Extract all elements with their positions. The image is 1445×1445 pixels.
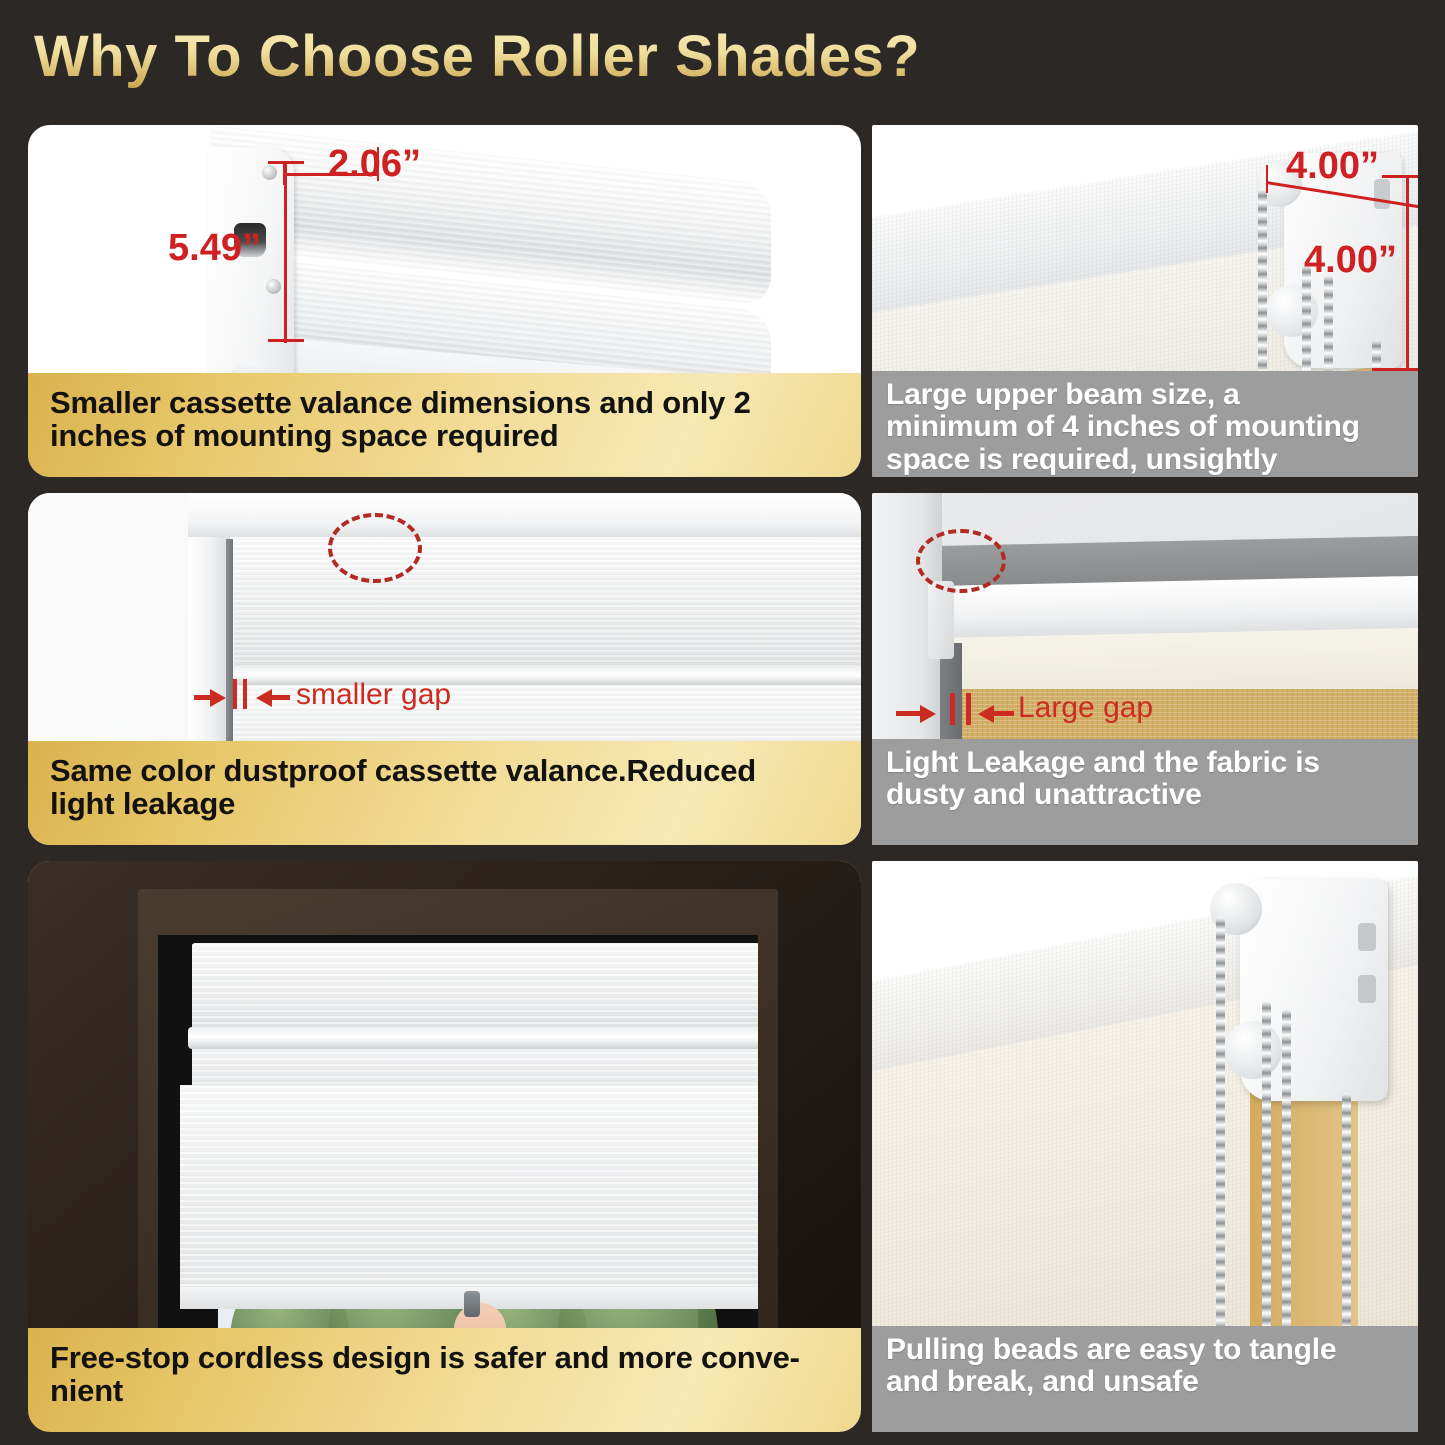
dim-tick-top — [268, 161, 304, 164]
panel-caption-pro: Same color dustproof cassette valance.Re… — [28, 741, 861, 845]
panel-free-stop-cordless-design: Free-stop cordless design is safer and m… — [28, 861, 861, 1432]
gap-arrow-left-icon — [256, 689, 272, 707]
screw-icon — [266, 279, 281, 294]
panel-pulling-beads-tangle: Pulling beads are easy to tangle and bre… — [872, 861, 1418, 1432]
panel-light-leakage-dusty-fabric: Large gap Light Leakage and the fabric i… — [872, 493, 1418, 845]
caption-text: Same color dustproof cassette valance.Re… — [50, 755, 756, 821]
roller-bracket — [928, 581, 954, 659]
bead-chain — [1262, 1001, 1271, 1377]
fabric-grain — [180, 1085, 758, 1293]
screw-icon — [262, 165, 277, 180]
gap-arrow-stem — [994, 711, 1014, 716]
gap-arrow-stem — [272, 695, 290, 700]
gap-marker-left — [950, 693, 955, 725]
gap-marker-right — [243, 679, 247, 709]
gap-callout-label: Large gap — [1018, 691, 1153, 725]
dimension-label-height: 4.00” — [1304, 239, 1397, 282]
bead-chain — [1216, 917, 1225, 1377]
panel-caption-con: Pulling beads are easy to tangle and bre… — [872, 1326, 1418, 1432]
caption-text: Light Leakage and the fabric is dusty an… — [886, 747, 1320, 812]
fabric-grain — [234, 539, 861, 667]
highlight-ellipse-icon — [916, 529, 1006, 593]
gap-arrow-stem — [194, 695, 212, 700]
valance-rail — [188, 1027, 758, 1049]
panel-caption-con: Large upper beam size, a minimum of 4 in… — [872, 371, 1418, 477]
cassette-valance — [192, 943, 758, 1031]
shade-upper-panel — [234, 539, 861, 667]
dim-tick-bottom — [268, 339, 304, 342]
bracket-notch — [1358, 923, 1376, 951]
panel-cassette-valance-dimensions: 2.06” 5.49” Smaller cassette valance dim… — [28, 125, 861, 477]
bead-chain — [1282, 1009, 1291, 1377]
window-head-trim — [188, 493, 861, 537]
fabric-grain — [192, 943, 758, 1031]
roller-end-b — [1224, 1021, 1282, 1079]
caption-text: Smaller cassette valance dimensions and … — [50, 387, 751, 453]
dimension-label-width: 2.06” — [328, 143, 421, 186]
panel-large-upper-beam: 4.00” 4.00” Large upper beam size, a min… — [872, 125, 1418, 477]
gap-marker-right — [966, 693, 971, 725]
caption-text: Large upper beam size, a minimum of 4 in… — [886, 379, 1360, 476]
gap-arrow-right-icon — [920, 705, 936, 723]
gap-arrow-stem — [896, 711, 922, 716]
dim-line-height — [1406, 175, 1409, 371]
gap-arrow-right-icon — [210, 689, 226, 707]
page-title: Why To Choose Roller Shades? — [34, 23, 920, 90]
gap-marker-left — [233, 679, 237, 709]
shade-mid-band — [192, 1045, 758, 1087]
panel-caption-con: Light Leakage and the fabric is dusty an… — [872, 739, 1418, 845]
caption-text: Free-stop cordless design is safer and m… — [50, 1342, 800, 1408]
page-header: Why To Choose Roller Shades? — [0, 0, 1445, 112]
comparison-grid: 2.06” 5.49” Smaller cassette valance dim… — [0, 112, 1445, 1445]
gap-arrow-left-icon — [978, 705, 994, 723]
dim-line-height — [284, 163, 287, 343]
panel-caption-pro: Free-stop cordless design is safer and m… — [28, 1328, 861, 1432]
bracket-notch — [1358, 975, 1376, 1003]
fabric-grain — [192, 1045, 758, 1087]
pull-tassel — [464, 1291, 480, 1317]
dimension-label-width: 4.00” — [1286, 145, 1379, 188]
panel-caption-pro: Smaller cassette valance dimensions and … — [28, 373, 861, 477]
shade-fabric-body — [180, 1085, 758, 1293]
dim-tick-left — [1266, 165, 1268, 193]
dim-tick-top — [1382, 175, 1418, 178]
gap-callout-label: smaller gap — [296, 678, 451, 712]
panel-dustproof-cassette-valance: smaller gap Same color dustproof cassett… — [28, 493, 861, 845]
dimension-label-height: 5.49” — [168, 227, 261, 270]
highlight-ellipse-icon — [328, 513, 422, 583]
caption-text: Pulling beads are easy to tangle and bre… — [886, 1334, 1336, 1399]
